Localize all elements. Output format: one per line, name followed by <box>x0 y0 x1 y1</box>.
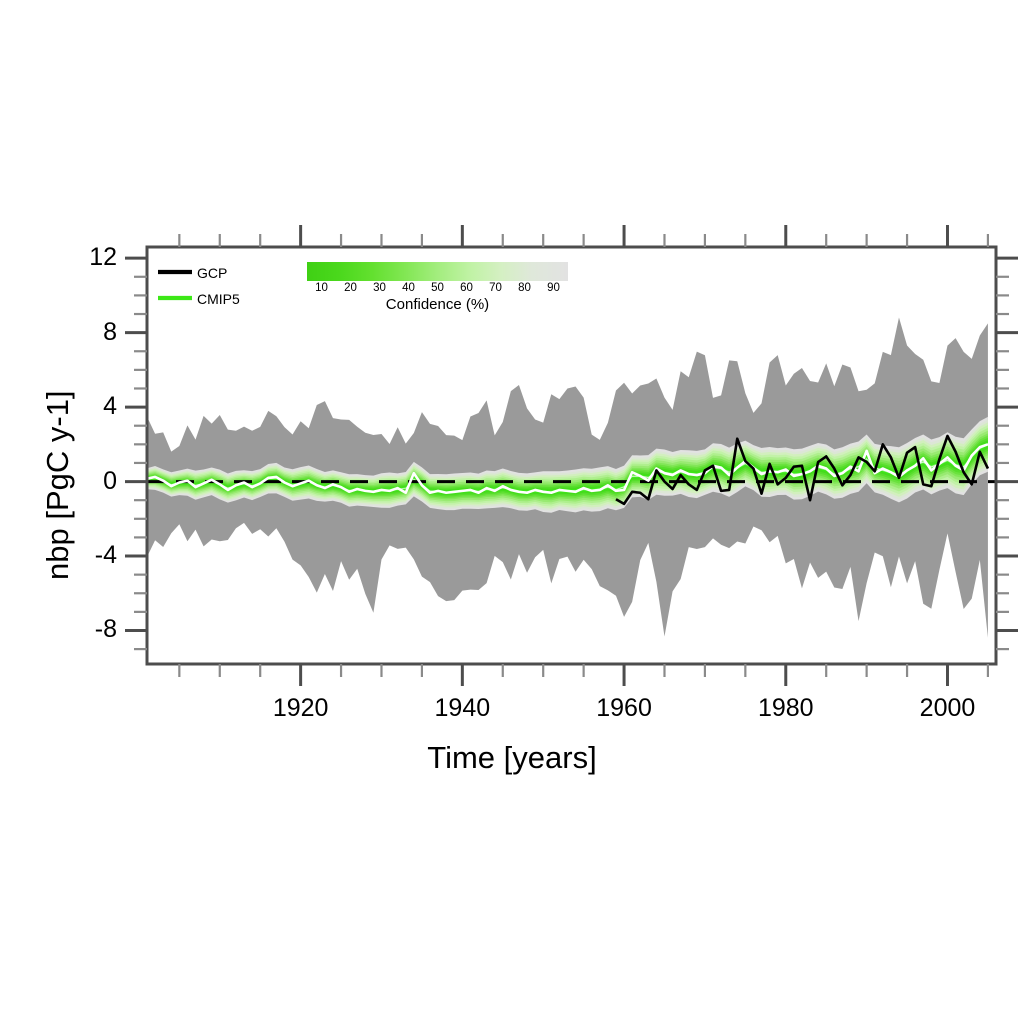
chart-plot <box>0 0 1024 1024</box>
x-tick-label: 1920 <box>241 694 361 723</box>
x-tick-label: 1940 <box>402 694 522 723</box>
colorbar-tick-label: 90 <box>534 282 574 294</box>
y-tick-label: 8 <box>17 318 117 347</box>
colorbar-title: Confidence (%) <box>307 296 568 313</box>
legend-label-gcp: GCP <box>197 265 227 281</box>
figure-canvas: nbp [PgC y-1] Time [years] 1920194019601… <box>0 0 1024 1024</box>
x-tick-label: 2000 <box>887 694 1007 723</box>
x-axis-title: Time [years] <box>0 740 1024 776</box>
legend-label-cmip5: CMIP5 <box>197 291 240 307</box>
colorbar-gradient <box>307 262 568 281</box>
y-tick-label: -4 <box>17 541 117 570</box>
y-tick-label: 12 <box>17 243 117 272</box>
y-tick-label: -8 <box>17 615 117 644</box>
data-layer <box>147 262 996 638</box>
x-tick-label: 1980 <box>726 694 846 723</box>
x-tick-label: 1960 <box>564 694 684 723</box>
y-tick-label: 0 <box>17 467 117 496</box>
y-tick-label: 4 <box>17 392 117 421</box>
